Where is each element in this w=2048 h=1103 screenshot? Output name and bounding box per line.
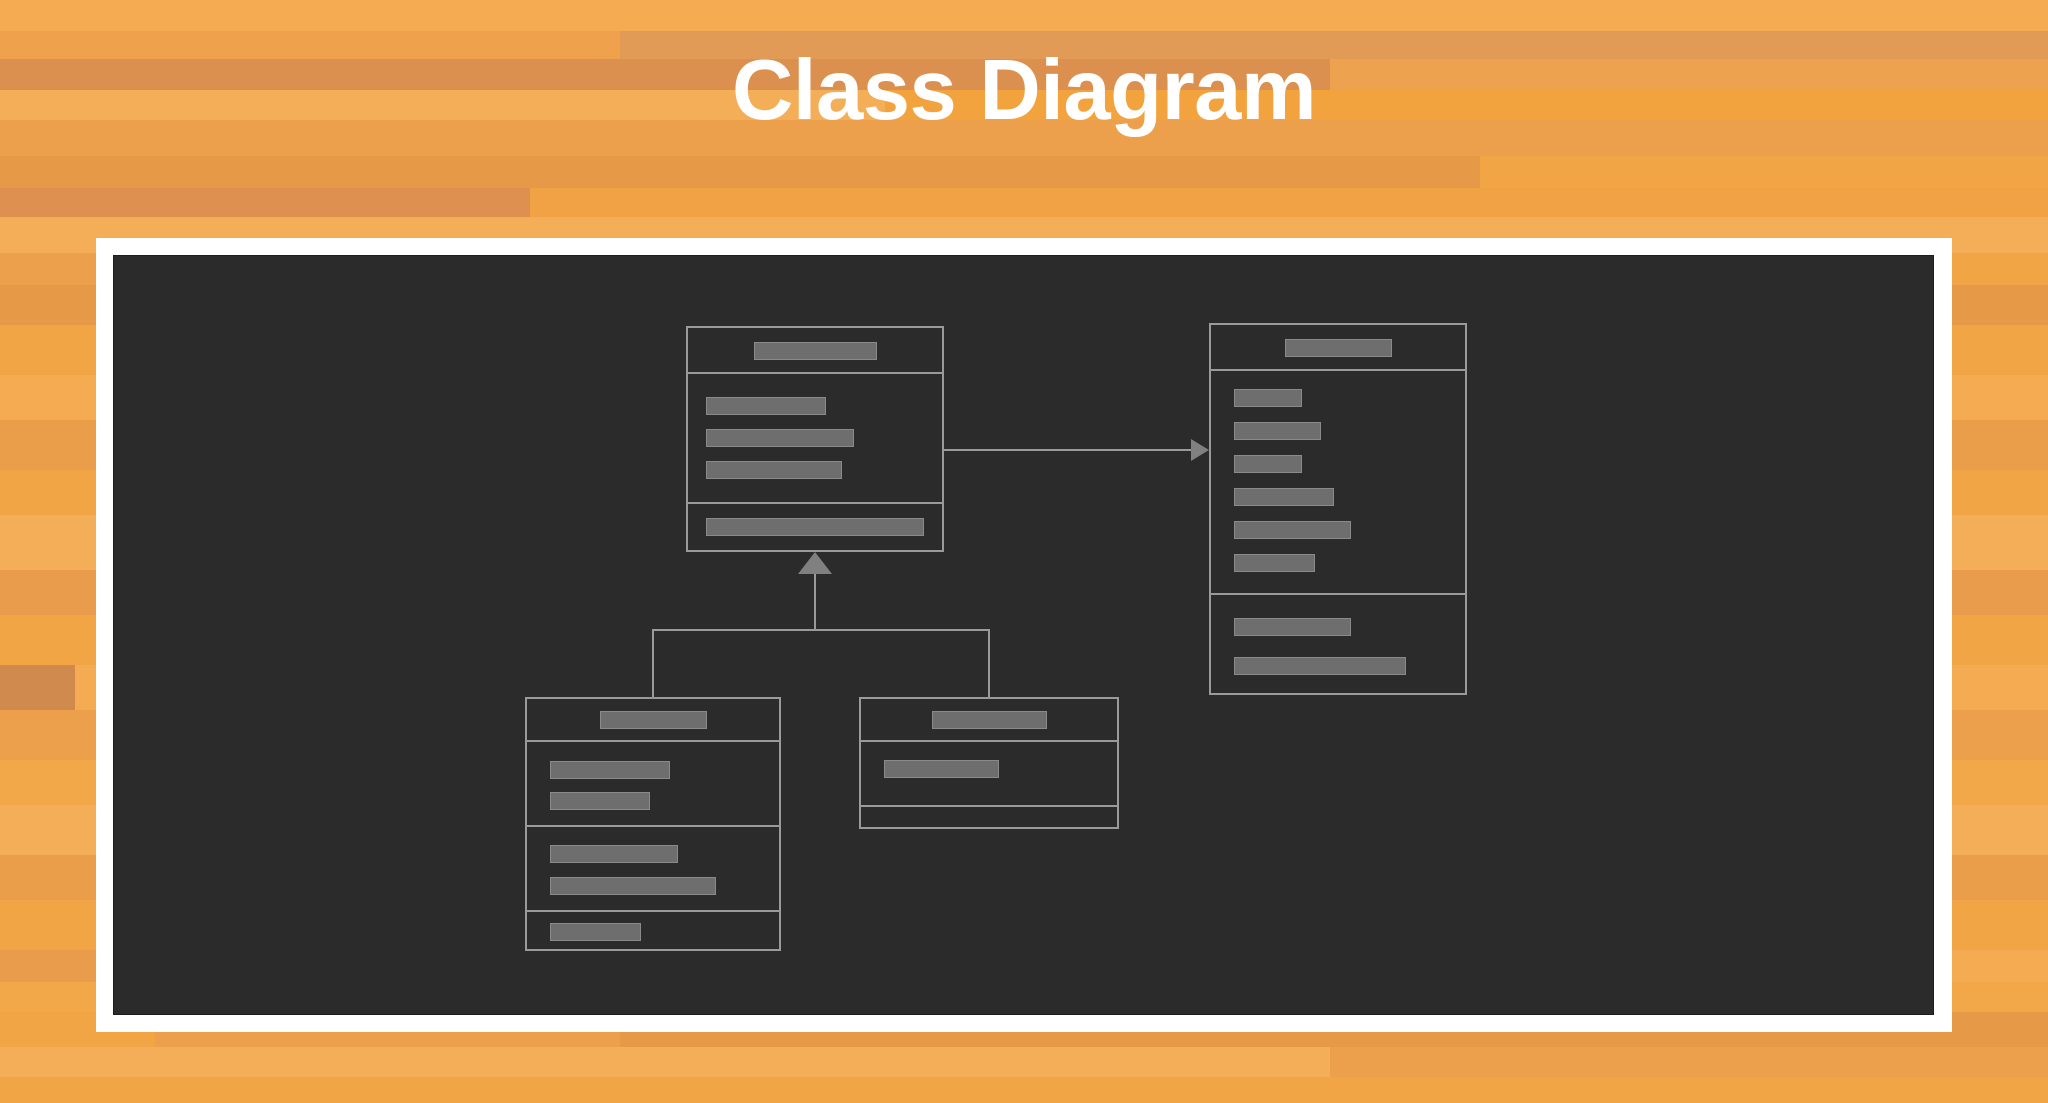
attribute-placeholder [1234, 389, 1302, 407]
parent-class-box[interactable] [686, 326, 944, 552]
class-name-placeholder [932, 711, 1047, 729]
attribute-placeholder [706, 397, 826, 415]
attribute-placeholder [1234, 554, 1315, 572]
uml-compartment-attributes [1211, 371, 1465, 595]
uml-compartment-title [527, 699, 779, 742]
uml-compartment-attributes [688, 374, 942, 504]
generalization-bus [652, 629, 990, 631]
wood-plank [0, 1077, 2048, 1103]
method-placeholder [550, 845, 678, 863]
association-arrowhead [1191, 439, 1209, 461]
attribute-placeholder [550, 761, 670, 779]
wood-plank [1330, 1047, 2048, 1077]
method-placeholder [1234, 618, 1351, 636]
uml-compartment-methods [1211, 595, 1465, 697]
attribute-placeholder [706, 461, 842, 479]
attribute-placeholder [1234, 455, 1302, 473]
associated-class-box[interactable] [1209, 323, 1467, 695]
wood-plank [0, 1047, 1330, 1077]
attribute-placeholder [706, 429, 854, 447]
generalization-arrowhead [798, 552, 832, 574]
uml-compartment-attributes [527, 742, 779, 827]
page-title: Class Diagram [0, 48, 2048, 133]
child-class-box-left[interactable] [525, 697, 781, 951]
child-class-box-middle[interactable] [859, 697, 1119, 829]
generalization-drop-middle [988, 629, 990, 697]
wood-plank [530, 188, 2048, 217]
uml-compartment-attributes [861, 742, 1117, 807]
method-placeholder [706, 518, 924, 536]
wood-plank [0, 156, 1480, 188]
association-line [944, 449, 1193, 451]
wood-plank [0, 665, 75, 710]
method-placeholder [1234, 657, 1406, 675]
attribute-placeholder [1234, 488, 1334, 506]
generalization-stem [814, 574, 816, 629]
class-name-placeholder [754, 342, 877, 360]
wood-plank [0, 0, 2048, 31]
uml-compartment-methods [688, 504, 942, 552]
class-name-placeholder [600, 711, 707, 729]
uml-compartment-title [861, 699, 1117, 742]
uml-compartment-methods [527, 827, 779, 912]
attribute-placeholder [1234, 521, 1351, 539]
attribute-placeholder [550, 792, 650, 810]
attribute-placeholder [1234, 422, 1321, 440]
wood-plank [0, 188, 530, 217]
diagram-canvas [113, 255, 1934, 1015]
attribute-placeholder [884, 760, 999, 778]
class-name-placeholder [1285, 339, 1392, 357]
uml-compartment-methods [861, 807, 1117, 831]
member-placeholder [550, 923, 641, 941]
generalization-drop-left [652, 629, 654, 697]
method-placeholder [550, 877, 716, 895]
wood-plank [1480, 156, 2048, 188]
uml-compartment-extra [527, 912, 779, 953]
uml-compartment-title [688, 328, 942, 374]
uml-compartment-title [1211, 325, 1465, 371]
